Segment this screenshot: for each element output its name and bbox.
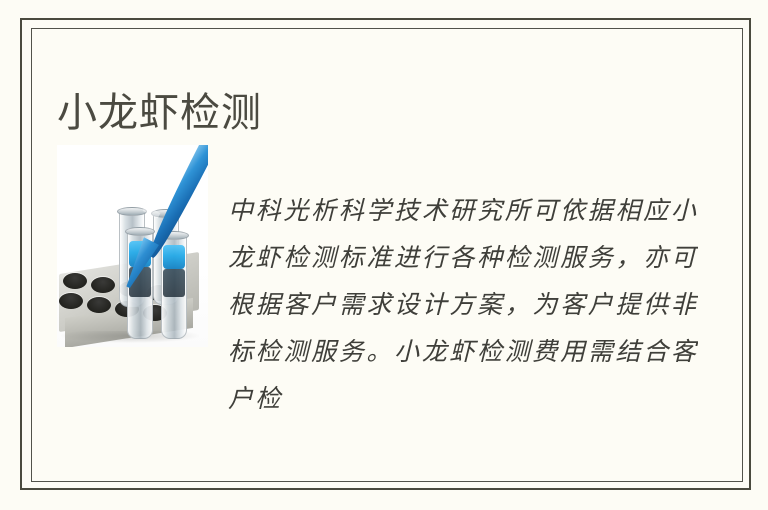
test-tube-rim xyxy=(125,227,155,236)
rack-hole xyxy=(59,293,83,309)
rack-hole xyxy=(91,277,115,293)
tube-liquid-dark xyxy=(163,269,185,297)
pipette-band xyxy=(143,205,161,218)
tube-liquid-blue xyxy=(163,245,185,269)
article-container: 小龙虾检测 xyxy=(0,0,768,510)
page-title: 小龙虾检测 xyxy=(57,87,262,139)
rack-hole xyxy=(87,297,111,313)
rack-hole xyxy=(63,273,87,289)
article-description: 中科光析科学技术研究所可依据相应小龙虾检测标准进行各种检测服务，亦可根据客户需求… xyxy=(228,188,698,423)
article-thumbnail-image xyxy=(57,145,208,347)
photo-background xyxy=(57,145,208,347)
